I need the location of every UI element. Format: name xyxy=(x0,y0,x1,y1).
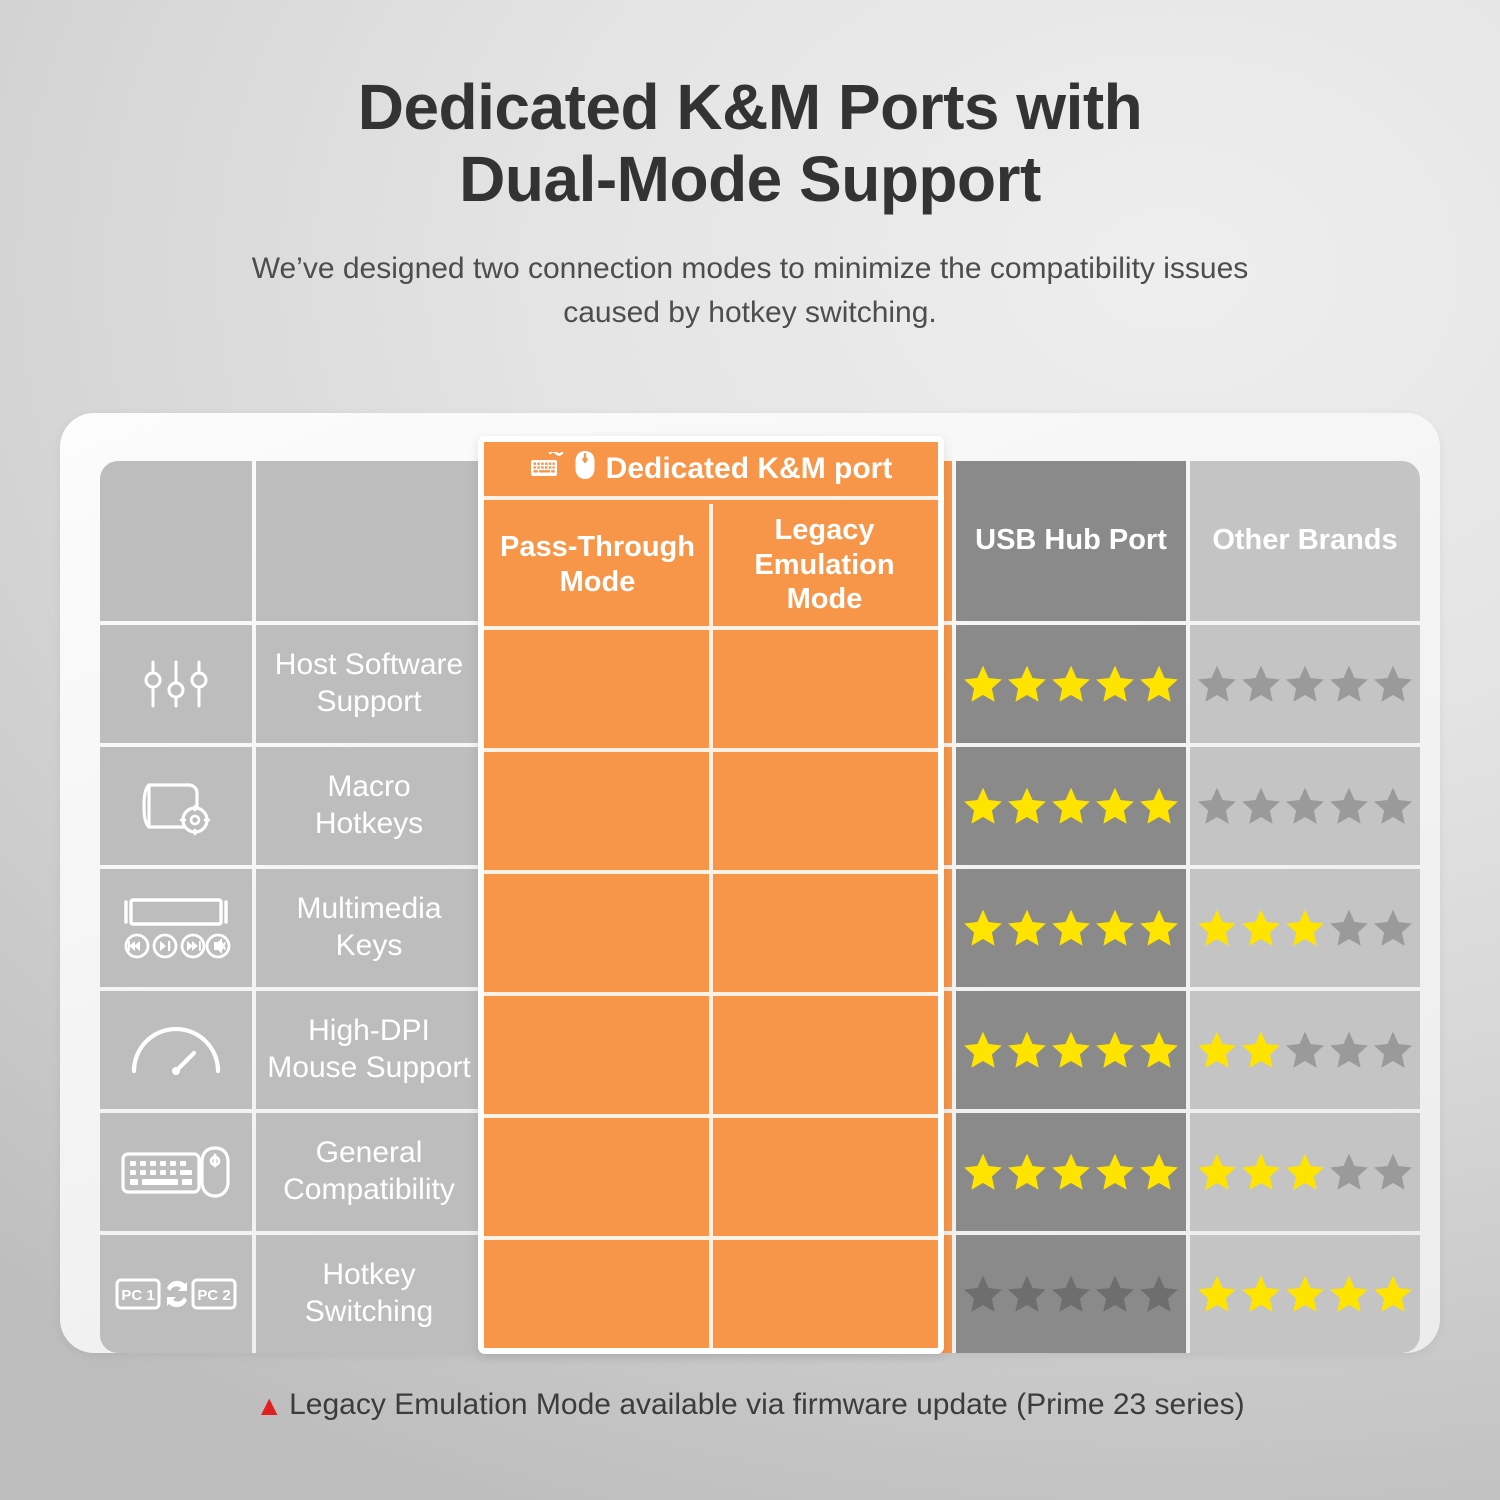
star-filled xyxy=(582,1273,624,1315)
star-filled xyxy=(817,1273,859,1315)
rating-stars xyxy=(729,663,947,705)
rating-stars xyxy=(962,785,1180,827)
star-filled xyxy=(670,1273,712,1315)
star-empty xyxy=(861,785,903,827)
star-filled xyxy=(1006,1029,1048,1071)
star-filled xyxy=(817,1029,859,1071)
star-empty xyxy=(817,785,859,827)
feature-label-4: General Compatibility xyxy=(275,1135,463,1208)
star-filled xyxy=(626,907,668,949)
star-filled xyxy=(1094,1029,1136,1071)
table-header-other-brands: Other Brands xyxy=(1190,461,1420,621)
star-empty xyxy=(1050,1273,1092,1315)
star-empty xyxy=(861,1029,903,1071)
star-filled xyxy=(1284,1273,1326,1315)
star-filled xyxy=(582,907,624,949)
rating-cell-usb-hub-3 xyxy=(956,991,1186,1109)
star-filled xyxy=(1328,1273,1370,1315)
star-filled xyxy=(817,1151,859,1193)
feature-icon-cell-3 xyxy=(100,991,252,1109)
star-filled xyxy=(538,907,580,949)
rating-cell-usb-hub-2 xyxy=(956,869,1186,987)
feature-icon-cell-4 xyxy=(100,1113,252,1231)
star-filled xyxy=(962,1029,1004,1071)
star-empty xyxy=(1328,663,1370,705)
table-header-feature-spacer xyxy=(256,461,482,621)
star-filled xyxy=(1006,907,1048,949)
star-filled xyxy=(1006,785,1048,827)
star-filled xyxy=(1240,1151,1282,1193)
star-filled xyxy=(861,907,903,949)
star-filled xyxy=(861,1273,903,1315)
star-filled xyxy=(538,1151,580,1193)
star-empty xyxy=(1372,1151,1414,1193)
comparison-table: USB Hub Port Other Brands Host Software xyxy=(100,461,1400,1333)
page-subtitle: We’ve designed two connection modes to m… xyxy=(0,247,1500,334)
star-empty xyxy=(729,663,771,705)
feature-label-5: Hotkey Switching xyxy=(297,1257,441,1330)
star-filled xyxy=(962,907,1004,949)
rating-cell-legacy-emulation-3 xyxy=(724,991,952,1109)
star-filled xyxy=(905,1151,947,1193)
feature-label-cell-2: Multimedia Keys xyxy=(256,869,482,987)
rating-stars xyxy=(962,907,1180,949)
star-filled xyxy=(729,1151,771,1193)
feature-label-cell-3: High-DPI Mouse Support xyxy=(256,991,482,1109)
page-subtitle-line2: caused by hotkey switching. xyxy=(563,296,937,329)
rating-cell-other-brands-2 xyxy=(1190,869,1420,987)
star-filled xyxy=(1006,663,1048,705)
star-half xyxy=(905,907,947,949)
star-empty xyxy=(1372,1029,1414,1071)
star-empty xyxy=(1240,785,1282,827)
rating-stars xyxy=(962,1273,1180,1315)
star-filled xyxy=(1050,1029,1092,1071)
star-filled xyxy=(494,785,536,827)
star-filled xyxy=(538,663,580,705)
rating-stars xyxy=(729,1273,947,1315)
multimedia-keys-icon xyxy=(121,894,231,962)
rating-cell-usb-hub-1 xyxy=(956,747,1186,865)
star-filled xyxy=(494,663,536,705)
rating-stars xyxy=(962,1029,1180,1071)
rating-cell-pass-through-2 xyxy=(486,869,720,987)
rating-stars xyxy=(494,785,712,827)
feature-label-0: Host Software Support xyxy=(267,647,471,720)
star-filled xyxy=(1138,1029,1180,1071)
rating-cell-pass-through-4 xyxy=(486,1113,720,1231)
star-filled xyxy=(582,663,624,705)
star-filled xyxy=(1240,1273,1282,1315)
star-empty xyxy=(1328,907,1370,949)
star-filled xyxy=(494,1273,536,1315)
star-filled xyxy=(1196,907,1238,949)
feature-label-cell-5: Hotkey Switching xyxy=(256,1235,482,1353)
star-filled xyxy=(1094,907,1136,949)
rating-cell-usb-hub-0 xyxy=(956,625,1186,743)
star-empty xyxy=(670,1029,712,1071)
footer-note: ▲Legacy Emulation Mode available via fir… xyxy=(0,1388,1500,1422)
table-header-pass-through xyxy=(486,461,720,621)
star-empty xyxy=(905,663,947,705)
rating-stars xyxy=(494,907,712,949)
star-filled xyxy=(962,785,1004,827)
star-filled xyxy=(773,1273,815,1315)
page-title-line1: Dedicated K&M Ports with xyxy=(358,71,1143,143)
feature-label-3: High-DPI Mouse Support xyxy=(259,1013,478,1086)
rating-cell-legacy-emulation-2 xyxy=(724,869,952,987)
star-filled xyxy=(626,785,668,827)
rating-stars xyxy=(1196,1151,1414,1193)
star-filled xyxy=(538,1029,580,1071)
star-filled xyxy=(538,785,580,827)
star-filled xyxy=(1050,907,1092,949)
star-empty xyxy=(1284,663,1326,705)
rating-cell-other-brands-1 xyxy=(1190,747,1420,865)
star-filled xyxy=(494,907,536,949)
table-header-usb-hub: USB Hub Port xyxy=(956,461,1186,621)
speedometer-icon xyxy=(128,1019,224,1081)
star-filled xyxy=(905,1273,947,1315)
feature-icon-cell-5: PC 1 PC 2 xyxy=(100,1235,252,1353)
column-header-usb-hub-label: USB Hub Port xyxy=(969,523,1173,558)
sliders-icon xyxy=(139,654,213,714)
star-filled xyxy=(1196,1029,1238,1071)
svg-text:PC 1: PC 1 xyxy=(121,1287,154,1304)
star-filled xyxy=(1050,1151,1092,1193)
rating-stars xyxy=(494,1151,712,1193)
star-empty xyxy=(817,663,859,705)
star-empty xyxy=(905,785,947,827)
page-title-line2: Dual-Mode Support xyxy=(459,143,1041,215)
feature-label-cell-0: Host Software Support xyxy=(256,625,482,743)
page-title: Dedicated K&M Ports with Dual-Mode Suppo… xyxy=(0,72,1500,215)
star-filled xyxy=(626,1029,668,1071)
star-empty xyxy=(1372,785,1414,827)
rating-cell-other-brands-0 xyxy=(1190,625,1420,743)
star-empty xyxy=(1284,785,1326,827)
feature-icon-cell-2 xyxy=(100,869,252,987)
star-filled xyxy=(729,1029,771,1071)
star-filled xyxy=(1050,663,1092,705)
rating-stars xyxy=(729,907,947,949)
star-filled xyxy=(538,1273,580,1315)
star-filled xyxy=(773,907,815,949)
star-filled xyxy=(626,1273,668,1315)
star-empty xyxy=(1328,1029,1370,1071)
star-empty xyxy=(729,785,771,827)
rating-cell-other-brands-3 xyxy=(1190,991,1420,1109)
star-filled xyxy=(1138,1151,1180,1193)
star-filled xyxy=(1094,785,1136,827)
svg-text:PC 2: PC 2 xyxy=(197,1287,230,1304)
star-empty xyxy=(1372,907,1414,949)
feature-icon-cell-0 xyxy=(100,625,252,743)
footer-note-text: Legacy Emulation Mode available via firm… xyxy=(289,1388,1244,1421)
page-header: Dedicated K&M Ports with Dual-Mode Suppo… xyxy=(0,0,1500,334)
rating-stars xyxy=(1196,1273,1414,1315)
star-filled xyxy=(1372,1273,1414,1315)
rating-cell-legacy-emulation-5 xyxy=(724,1235,952,1353)
rating-stars xyxy=(494,1029,712,1071)
star-filled xyxy=(773,1029,815,1071)
rating-stars xyxy=(1196,907,1414,949)
star-empty xyxy=(1138,1273,1180,1315)
star-filled xyxy=(1094,1151,1136,1193)
rating-stars xyxy=(494,1273,712,1315)
star-empty xyxy=(1196,663,1238,705)
rating-cell-pass-through-5 xyxy=(486,1235,720,1353)
star-empty xyxy=(861,663,903,705)
star-filled xyxy=(962,663,1004,705)
rating-stars xyxy=(962,663,1180,705)
rating-cell-other-brands-4 xyxy=(1190,1113,1420,1231)
feature-label-cell-1: Macro Hotkeys xyxy=(256,747,482,865)
rating-stars xyxy=(962,1151,1180,1193)
star-empty xyxy=(1284,1029,1326,1071)
rating-cell-pass-through-3 xyxy=(486,991,720,1109)
star-filled xyxy=(1138,907,1180,949)
star-filled xyxy=(582,1029,624,1071)
keyboard-mouse-icon xyxy=(120,1144,232,1200)
star-empty xyxy=(773,663,815,705)
feature-label-2: Multimedia Keys xyxy=(288,891,449,964)
star-filled xyxy=(1284,907,1326,949)
rating-stars xyxy=(1196,663,1414,705)
star-filled xyxy=(582,785,624,827)
star-empty xyxy=(1006,1273,1048,1315)
rating-cell-legacy-emulation-1 xyxy=(724,747,952,865)
star-empty xyxy=(962,1273,1004,1315)
star-filled xyxy=(1006,1151,1048,1193)
rating-cell-other-brands-5 xyxy=(1190,1235,1420,1353)
star-filled xyxy=(1240,907,1282,949)
star-empty xyxy=(1240,663,1282,705)
rating-stars xyxy=(729,1151,947,1193)
star-empty xyxy=(905,1029,947,1071)
star-filled xyxy=(582,1151,624,1193)
star-filled xyxy=(670,785,712,827)
star-filled xyxy=(626,1151,668,1193)
star-filled xyxy=(962,1151,1004,1193)
star-filled xyxy=(1138,663,1180,705)
feature-label-cell-4: General Compatibility xyxy=(256,1113,482,1231)
star-filled xyxy=(1240,1029,1282,1071)
star-filled xyxy=(494,1029,536,1071)
feature-label-1: Macro Hotkeys xyxy=(307,769,431,842)
star-filled xyxy=(494,1151,536,1193)
pc-switch-icon: PC 1 PC 2 xyxy=(115,1272,237,1316)
star-empty xyxy=(1328,1151,1370,1193)
rating-stars xyxy=(729,785,947,827)
rating-stars xyxy=(1196,1029,1414,1071)
rating-cell-legacy-emulation-4 xyxy=(724,1113,952,1231)
star-filled xyxy=(729,1273,771,1315)
rating-stars xyxy=(729,1029,947,1071)
rating-cell-pass-through-0 xyxy=(486,625,720,743)
star-filled xyxy=(1284,1151,1326,1193)
star-filled xyxy=(1196,1273,1238,1315)
star-filled xyxy=(817,907,859,949)
star-empty xyxy=(1094,1273,1136,1315)
rating-cell-usb-hub-5 xyxy=(956,1235,1186,1353)
rating-cell-pass-through-1 xyxy=(486,747,720,865)
star-empty xyxy=(1372,663,1414,705)
table-header-icon-spacer xyxy=(100,461,252,621)
star-empty xyxy=(670,663,712,705)
table-header-legacy-emulation xyxy=(724,461,952,621)
rating-cell-usb-hub-4 xyxy=(956,1113,1186,1231)
star-filled xyxy=(861,1151,903,1193)
page-subtitle-line1: We’ve designed two connection modes to m… xyxy=(252,252,1249,285)
star-empty xyxy=(1196,785,1238,827)
rating-cell-legacy-emulation-0 xyxy=(724,625,952,743)
star-filled xyxy=(729,907,771,949)
feature-icon-cell-1 xyxy=(100,747,252,865)
star-empty xyxy=(670,1151,712,1193)
warning-triangle-icon: ▲ xyxy=(255,1390,283,1421)
rating-stars xyxy=(494,663,712,705)
star-filled xyxy=(1138,785,1180,827)
star-half xyxy=(670,907,712,949)
star-filled xyxy=(1094,663,1136,705)
star-filled xyxy=(773,1151,815,1193)
column-header-other-brands-label: Other Brands xyxy=(1206,523,1403,558)
star-empty xyxy=(1328,785,1370,827)
rating-stars xyxy=(1196,785,1414,827)
star-filled xyxy=(626,663,668,705)
star-filled xyxy=(1050,785,1092,827)
star-empty xyxy=(773,785,815,827)
star-filled xyxy=(1196,1151,1238,1193)
macro-record-icon xyxy=(137,775,215,837)
